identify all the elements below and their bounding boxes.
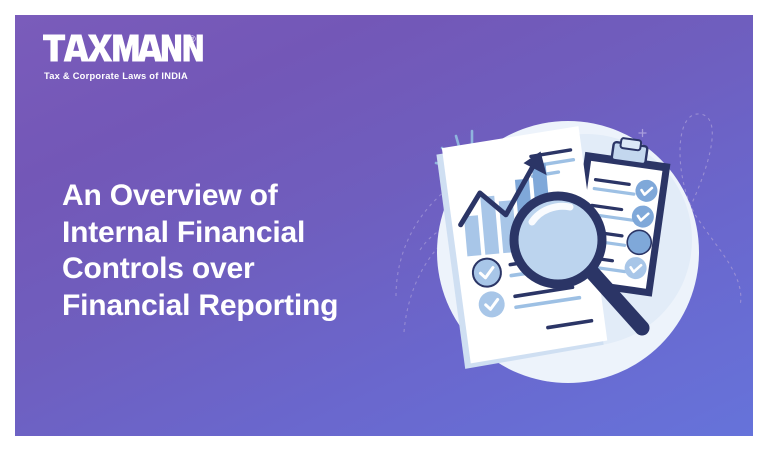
- headline-line-2: Internal Financial: [62, 215, 432, 252]
- page-title: An Overview of Internal Financial Contro…: [62, 178, 432, 324]
- taxmann-logo[interactable]: ® Tax & Corporate Laws of INDIA: [43, 31, 218, 93]
- taxmann-wordmark: [43, 31, 203, 65]
- illustration: [390, 100, 753, 390]
- clipboard-clip-inner: [620, 138, 641, 151]
- registered-trademark-icon: ®: [189, 35, 196, 44]
- headline-line-3: Controls over: [62, 251, 432, 288]
- logo-tagline: Tax & Corporate Laws of INDIA: [44, 71, 188, 81]
- headline-line-1: An Overview of: [62, 178, 432, 215]
- banner-canvas: ® Tax & Corporate Laws of INDIA An Overv…: [15, 15, 753, 436]
- headline-line-4: Financial Reporting: [62, 288, 432, 325]
